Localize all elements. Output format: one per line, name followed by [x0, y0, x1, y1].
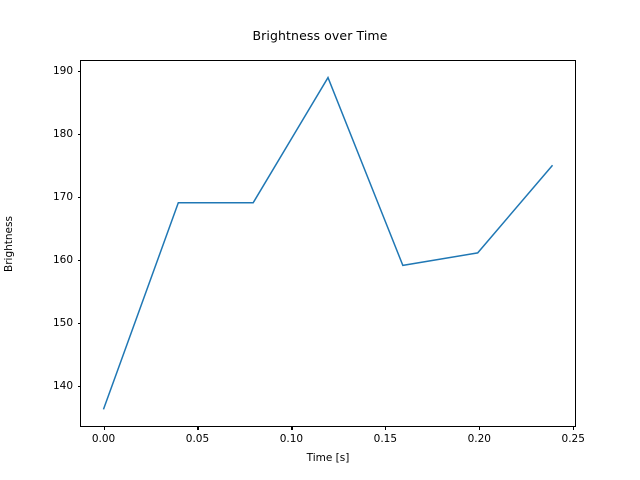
y-tick-label: 160	[53, 254, 73, 266]
y-tick-label: 150	[53, 317, 73, 329]
y-axis-label-text: Brightness	[3, 216, 15, 272]
y-tick-label: 180	[53, 128, 73, 140]
line-series-svg	[81, 61, 575, 426]
x-tick-mark	[385, 426, 386, 430]
y-tick-mark	[78, 134, 82, 135]
x-tick-mark	[197, 426, 198, 430]
x-tick-label: 0.20	[468, 433, 491, 445]
y-tick-mark	[78, 260, 82, 261]
x-tick-mark	[291, 426, 292, 430]
brightness-line	[103, 78, 552, 410]
x-tick-label: 0.15	[374, 433, 397, 445]
x-tick-label: 0.05	[186, 433, 209, 445]
chart-title: Brightness over Time	[0, 28, 640, 43]
x-tick-mark	[104, 426, 105, 430]
y-tick-mark	[78, 197, 82, 198]
y-tick-mark	[78, 386, 82, 387]
y-tick-mark	[78, 71, 82, 72]
x-axis-label: Time [s]	[80, 452, 576, 464]
matplotlib-figure: Brightness over Time Brightness 14015016…	[0, 0, 640, 480]
y-tick-mark	[78, 323, 82, 324]
x-tick-mark	[479, 426, 480, 430]
x-tick-label: 0.25	[562, 433, 585, 445]
y-tick-label: 170	[53, 191, 73, 203]
plot-area: 1401501601701801900.000.050.100.150.200.…	[80, 60, 576, 427]
y-axis-label: Brightness	[0, 60, 18, 427]
y-tick-label: 140	[53, 380, 73, 392]
x-tick-mark	[573, 426, 574, 430]
x-tick-label: 0.10	[280, 433, 303, 445]
x-tick-label: 0.00	[92, 433, 115, 445]
y-tick-label: 190	[53, 65, 73, 77]
